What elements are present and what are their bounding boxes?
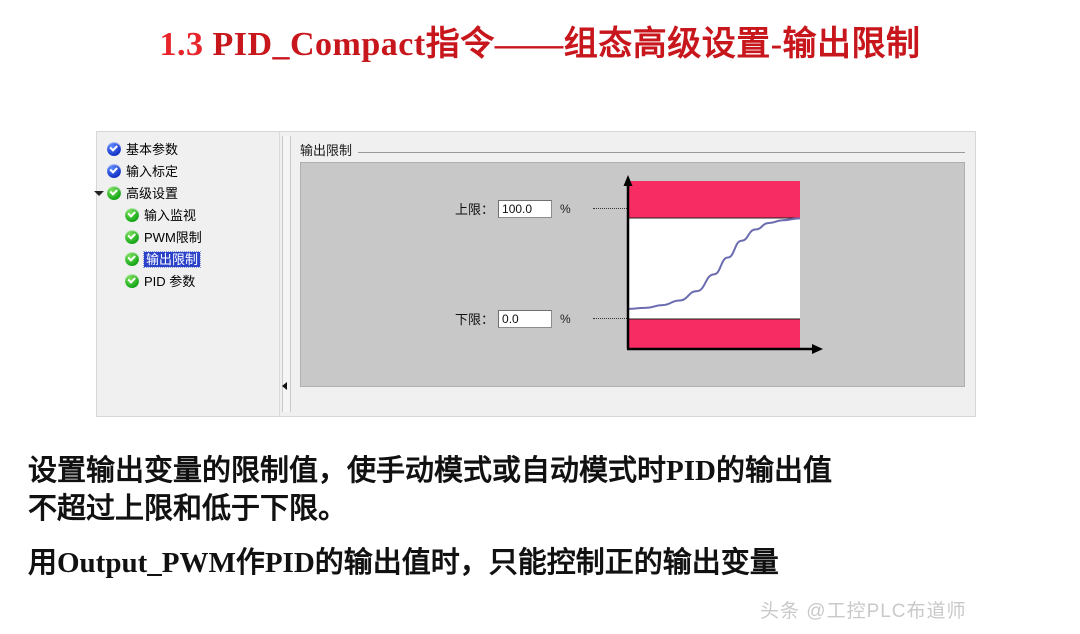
sidebar-item-input-scaling[interactable]: 输入标定	[103, 160, 279, 182]
below-lower-limit-band	[628, 319, 800, 349]
check-circle-green-icon	[125, 274, 139, 288]
sidebar-item-label: 输入标定	[126, 165, 178, 178]
check-circle-green-icon	[125, 230, 139, 244]
y-axis-arrowhead	[624, 175, 633, 186]
scrollbar-track[interactable]	[282, 136, 291, 412]
chart-svg	[623, 171, 833, 361]
above-upper-limit-band	[628, 181, 800, 218]
section-header: 输出限制	[300, 140, 965, 158]
upper-limit-row: 上限： %	[455, 199, 571, 218]
output-limit-chart	[623, 171, 833, 361]
sidebar-item-advanced-settings[interactable]: 高级设置	[103, 182, 279, 204]
description-text: 设置输出变量的限制值，使手动模式或自动模式时PID的输出值 不超过上限和低于下限…	[28, 452, 1058, 582]
upper-limit-unit: %	[560, 202, 571, 216]
sidebar-item-label: 高级设置	[126, 187, 178, 200]
lower-limit-row: 下限： %	[455, 309, 571, 328]
section-title: 输出限制	[300, 140, 358, 159]
sidebar-item-label: 输入监视	[144, 209, 196, 222]
page-title: 1.3 PID_Compact指令——组态高级设置-输出限制	[0, 16, 1080, 65]
sidebar-item-label: 输出限制	[144, 252, 200, 267]
paragraph-1-line-1: 设置输出变量的限制值，使手动模式或自动模式时PID的输出值	[28, 452, 1058, 490]
output-limits-diagram-area: 上限： % 下限： %	[300, 162, 965, 387]
check-circle-green-icon	[125, 252, 139, 266]
sidebar-item-pid-params[interactable]: PID 参数	[103, 270, 279, 292]
navigation-tree[interactable]: 基本参数 输入标定 高级设置 输入监视 PWM限制 输出限制 PID 参数	[97, 132, 279, 416]
page-title-text: PID_Compact指令——组态高级设置-输出限制	[203, 26, 920, 63]
sidebar-item-pwm-limits[interactable]: PWM限制	[103, 226, 279, 248]
paragraph-1-line-2: 不超过上限和低于下限。	[28, 490, 1058, 528]
check-circle-blue-icon	[107, 164, 121, 178]
lower-limit-label: 下限：	[455, 309, 494, 328]
lower-limit-input[interactable]	[498, 310, 552, 328]
upper-limit-label: 上限：	[455, 199, 494, 218]
check-circle-green-icon	[107, 186, 121, 200]
lower-limit-unit: %	[560, 312, 571, 326]
section-divider	[358, 152, 965, 153]
output-limits-panel: 输出限制 上限： % 下限： %	[292, 132, 975, 416]
x-axis-arrowhead	[812, 344, 823, 354]
paragraph-2: 用Output_PWM作PID的输出值时，只能控制正的输出变量	[28, 544, 1058, 582]
watermark: 头条 @工控PLC布道师	[760, 596, 967, 623]
chevron-down-icon[interactable]	[93, 187, 105, 199]
check-circle-blue-icon	[107, 142, 121, 156]
sidebar-item-label: PID 参数	[144, 275, 195, 288]
page-title-number: 1.3	[159, 26, 203, 63]
panel-splitter[interactable]	[279, 132, 292, 416]
sidebar-item-input-monitoring[interactable]: 输入监视	[103, 204, 279, 226]
sidebar-item-label: PWM限制	[144, 231, 202, 244]
sidebar-item-basic-params[interactable]: 基本参数	[103, 138, 279, 160]
sidebar-item-output-limits[interactable]: 输出限制	[103, 248, 279, 270]
upper-limit-input[interactable]	[498, 200, 552, 218]
check-circle-green-icon	[125, 208, 139, 222]
pid-config-dialog: 基本参数 输入标定 高级设置 输入监视 PWM限制 输出限制 PID 参数	[96, 131, 976, 417]
collapse-arrow-icon[interactable]	[282, 382, 287, 390]
sidebar-item-label: 基本参数	[126, 143, 178, 156]
